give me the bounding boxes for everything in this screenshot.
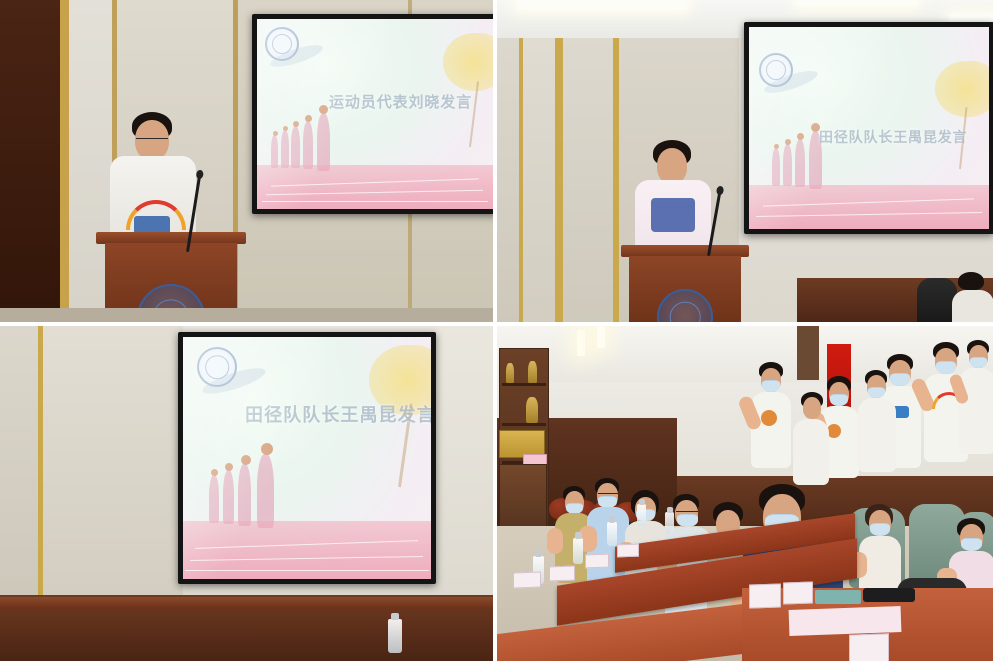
wall-panel-a (497, 38, 521, 322)
floor (0, 308, 493, 322)
face-mask (868, 387, 885, 398)
audience-chair (917, 278, 957, 322)
screen-glare (749, 27, 989, 229)
pink-paper (789, 606, 902, 636)
notebook (815, 590, 861, 604)
scene-conference-room-audience (497, 326, 993, 661)
pendant-light (597, 326, 605, 348)
cabinet-shelf (502, 423, 546, 426)
bottle-cap (667, 507, 673, 513)
wall-frame (797, 326, 819, 380)
podium (621, 245, 749, 322)
projection-screen: 田径队队长王禺昆发言 (749, 27, 989, 229)
projection-screen: 运动员代表刘晓发言 (257, 19, 493, 209)
standing-student (959, 340, 993, 502)
photo-panel-top-right: 田径队队长王禺昆发言 (497, 0, 993, 322)
wall-panel-a (0, 326, 40, 612)
glasses-icon (136, 138, 168, 141)
white-tshirt (959, 368, 993, 454)
wall-trim-left (60, 0, 69, 322)
white-tshirt (793, 419, 829, 485)
projection-screen-frame: 运动员代表刘晓发言 (252, 14, 493, 214)
cabinet-shelf (502, 383, 546, 386)
bottle-cap (639, 499, 645, 505)
water-bottle (607, 522, 617, 546)
glasses-icon (598, 493, 618, 494)
projection-screen: 田径队队长王禺昆发言 (183, 337, 431, 579)
dark-wooden-door (0, 0, 62, 322)
water-bottle (388, 619, 402, 653)
water-bottle (637, 504, 646, 526)
ceiling-light (949, 14, 993, 22)
standing-student (749, 362, 793, 502)
trophy (528, 361, 537, 383)
scene-lecture-hall-1: 运动员代表刘晓发言 (0, 0, 493, 322)
face-mask (762, 380, 780, 392)
photo-panel-bottom-left: 田径队队长王禺昆发言 (0, 326, 493, 661)
head (657, 148, 687, 184)
photo-panel-top-left: 运动员代表刘晓发言 (0, 0, 493, 322)
mobile-phone (863, 588, 915, 602)
name-card (849, 633, 889, 661)
wall-panel-b (43, 326, 183, 612)
screen-glare (257, 19, 493, 209)
projection-screen-frame: 田径队队长王禺昆发言 (178, 332, 436, 584)
white-tshirt (751, 392, 791, 468)
name-card (749, 583, 781, 608)
pendant-light (577, 330, 585, 356)
water-bottle (665, 512, 674, 534)
photo-collage: 运动员代表刘晓发言 (0, 0, 993, 661)
wall-trim-b (555, 38, 563, 322)
wall-panel-c (563, 38, 615, 322)
tshirt-print (651, 198, 695, 232)
scene-lecture-hall-2: 田径队队长王禺昆发言 (497, 0, 993, 322)
tshirt-print (761, 410, 777, 426)
name-card (617, 544, 639, 558)
bottle-cap (609, 516, 615, 523)
screen-glare (183, 337, 431, 579)
table-edge (0, 597, 493, 609)
name-card (783, 581, 813, 604)
glasses-icon (676, 511, 698, 512)
bottle-cap (575, 532, 582, 539)
trophy (506, 363, 514, 383)
bottle-cap (535, 549, 542, 557)
projection-screen-frame: 田径队队长王禺昆发言 (744, 22, 993, 234)
hair (958, 272, 984, 290)
water-bottle (573, 538, 583, 564)
clapping-hand (547, 528, 563, 554)
name-card (549, 566, 575, 582)
photo-panel-bottom-right (497, 326, 993, 661)
scene-lecture-hall-3: 田径队队长王禺昆发言 (0, 326, 493, 661)
audience-person (952, 272, 993, 322)
white-tshirt (858, 398, 896, 472)
ceiling-light (517, 0, 687, 10)
face-mask (936, 361, 956, 374)
face-mask (970, 357, 987, 368)
face-mask (830, 394, 848, 406)
name-card (513, 572, 541, 589)
head (803, 397, 821, 419)
face-mask (961, 538, 982, 551)
torso (952, 290, 993, 322)
wall-panel-b (523, 38, 559, 322)
face-mask (870, 523, 890, 536)
ceiling-light (797, 0, 917, 6)
standing-student (857, 370, 897, 504)
trophy (526, 397, 538, 423)
cabinet-lower (499, 464, 547, 530)
face-mask (677, 514, 698, 527)
name-card (585, 554, 609, 569)
bottle-cap (391, 613, 399, 620)
